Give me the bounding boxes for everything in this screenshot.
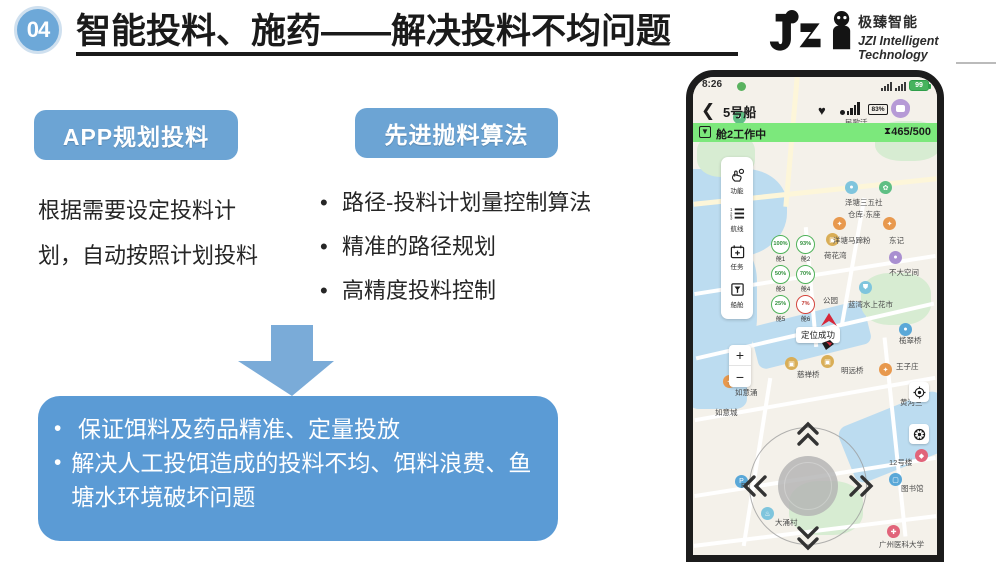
- list-item: • 精准的路径规划: [320, 232, 670, 262]
- cabin-level-value: 7%: [801, 302, 809, 308]
- sidebar-item-label: 功能: [731, 185, 744, 195]
- zoom-out-button[interactable]: −: [729, 366, 751, 387]
- work-status-bar: ▼ 舱2工作中 ⧗ 465/500: [693, 123, 937, 142]
- boat-heading-marker-icon: [819, 312, 839, 328]
- cabin-label: 舱2: [801, 254, 810, 263]
- map-label: 公园: [823, 295, 838, 306]
- sidebar-item-function[interactable]: 功能: [721, 162, 753, 200]
- map-pin[interactable]: ✿: [879, 181, 892, 194]
- cabin-label: 舱4: [801, 284, 810, 293]
- status-indicator-dot: [737, 82, 746, 91]
- heading-pill-app-planning: APP规划投料: [34, 110, 238, 160]
- sidebar-item-task[interactable]: 任务: [721, 238, 753, 276]
- work-status-text: 舱2工作中: [716, 126, 766, 142]
- map-label: 明远桥: [841, 365, 864, 376]
- map-pin[interactable]: ▣: [821, 355, 834, 368]
- map-left-toolbar: 功能 123 航线 任务: [721, 157, 753, 319]
- funnel-icon: [729, 281, 746, 298]
- map-pin[interactable]: ◆: [915, 449, 928, 462]
- algorithm-bullet-list: • 路径-投料计划量控制算法 • 精准的路径规划 • 高精度投料控制: [320, 188, 670, 320]
- map-pin[interactable]: ⛊: [859, 281, 872, 294]
- map-label: 洋塘马蹄粉: [833, 235, 871, 246]
- map-label: 图书馆: [901, 483, 924, 494]
- map-label: 仓库·东座: [848, 209, 881, 220]
- device-battery-label: 83%: [871, 106, 884, 113]
- list-item: • 解决人工投饵造成的投料不均、饵料浪费、鱼塘水环境破坏问题: [54, 446, 538, 514]
- helm-mode-button[interactable]: [909, 424, 929, 444]
- bullet-marker: •: [320, 188, 342, 218]
- cabin-level-value: 25%: [775, 302, 786, 308]
- phone-mockup: ● ✦ ✦ ● ▣ ● ✿ ▰ ⛊ ● ▣ ✦ ▣ ◆ ▢ ✚ ♨ P ✦: [686, 70, 944, 562]
- hand-pointer-icon: [729, 167, 746, 184]
- section-number: 04: [27, 17, 49, 43]
- feed-amount-label: 465/500: [891, 126, 931, 138]
- map-pin[interactable]: ●: [845, 181, 858, 194]
- map-pin[interactable]: ✚: [887, 525, 900, 538]
- avatar-icon[interactable]: [891, 99, 910, 118]
- cabin-indicator[interactable]: 100%舱1: [769, 235, 792, 263]
- map-label: 不大空间: [889, 267, 919, 278]
- cabin-level-value: 93%: [800, 242, 811, 248]
- hourglass-icon: ⧗: [884, 126, 891, 137]
- locate-me-button[interactable]: [909, 382, 929, 402]
- map-label: 如意涌: [735, 387, 758, 398]
- down-arrow-icon: [237, 325, 335, 397]
- cabin-label: 舱3: [776, 284, 785, 293]
- cabin-level-ring: 50%: [771, 265, 790, 284]
- cabin-label: 舱6: [801, 314, 810, 323]
- cabin-level-value: 100%: [773, 242, 787, 248]
- joystick-up-button[interactable]: [796, 421, 820, 447]
- list-item-label: 路径-投料计划量控制算法: [342, 188, 591, 218]
- bullet-marker: •: [54, 412, 78, 446]
- map-label: 泽塘三五社: [845, 197, 883, 208]
- cabin-level-value: 70%: [800, 272, 811, 278]
- cabin-level-ring: 100%: [771, 235, 790, 254]
- phone-screen: ● ✦ ✦ ● ▣ ● ✿ ▰ ⛊ ● ▣ ✦ ▣ ◆ ▢ ✚ ♨ P ✦: [693, 77, 937, 555]
- map-pin[interactable]: ●: [889, 251, 902, 264]
- map-label: 12号楼: [889, 457, 912, 468]
- cellular-signal-2-icon: [895, 81, 906, 91]
- logo-underline: [956, 62, 996, 64]
- list-item: • 路径-投料计划量控制算法: [320, 188, 670, 218]
- cabin-level-value: 50%: [775, 272, 786, 278]
- map-pin[interactable]: ✦: [879, 363, 892, 376]
- cabin-indicator[interactable]: 70%舱4: [794, 265, 817, 293]
- list-item: • 高精度投料控制: [320, 276, 670, 306]
- boat-marker-icon[interactable]: [821, 339, 835, 351]
- brand-logo: 极臻智能 JZI Intelligent Technology: [762, 10, 998, 56]
- status-icons: 99: [881, 80, 929, 91]
- heart-icon[interactable]: ♥: [818, 103, 826, 118]
- list-item-label: 精准的路径规划: [342, 232, 496, 262]
- svg-text:3: 3: [730, 216, 733, 221]
- sidebar-item-label: 任务: [731, 261, 744, 271]
- battery-icon: 99: [909, 80, 929, 91]
- page-title: 智能投料、施药——解决投料不均问题: [76, 3, 671, 54]
- cabin-level-indicators: 100%舱193%舱250%舱370%舱425%舱57%舱6: [769, 235, 819, 323]
- crosshair-icon: [913, 386, 926, 399]
- jzi-logo-icon: [768, 10, 854, 54]
- zoom-in-button[interactable]: +: [729, 345, 751, 366]
- route-lines-icon: 123: [729, 205, 746, 222]
- list-item-label: 保证饵料及药品精准、定量投放: [78, 412, 400, 446]
- joystick-knob[interactable]: [778, 456, 838, 516]
- cabin-label: 舱1: [776, 254, 785, 263]
- list-item-label: 解决人工投饵造成的投料不均、饵料浪费、鱼塘水环境破坏问题: [71, 446, 538, 514]
- map-label: 榄翠桥: [899, 335, 922, 346]
- slide-header: 04 智能投料、施药——解决投料不均问题 极臻智能 JZI Intelligen…: [0, 0, 1000, 62]
- pill-1-label: APP规划投料: [63, 118, 209, 152]
- bullet-marker: •: [54, 446, 71, 480]
- map-zoom-controls: + −: [729, 345, 751, 387]
- sidebar-item-label: 航线: [731, 223, 744, 233]
- app-header-bar: ❮ 5号船 ♥ 83%: [693, 97, 937, 123]
- sidebar-item-label: 船舱: [731, 299, 744, 309]
- map-label: 荷花湾: [824, 250, 847, 261]
- cabin-label: 舱5: [776, 314, 785, 323]
- cabin-level-ring: 70%: [796, 265, 815, 284]
- title-underline: [76, 52, 738, 56]
- cellular-signal-icon: [881, 81, 892, 91]
- ship-name-label: 5号船: [723, 102, 756, 121]
- map-label: 慈禅桥: [797, 369, 820, 380]
- bullet-marker: •: [320, 232, 342, 262]
- chevron-left-icon[interactable]: ❮: [701, 101, 715, 121]
- results-callout-box: • 保证饵料及药品精准、定量投放 • 解决人工投饵造成的投料不均、饵料浪费、鱼塘…: [38, 396, 558, 541]
- cabin-indicator[interactable]: 7%舱6: [794, 295, 817, 323]
- map-label: 东记: [889, 235, 904, 246]
- cabin-icon: ▼: [699, 126, 711, 138]
- signal-icon[interactable]: [840, 102, 860, 115]
- section-number-badge: 04: [14, 6, 62, 54]
- list-item: • 保证饵料及药品精准、定量投放: [54, 412, 538, 446]
- map-label: 王子庄: [896, 361, 919, 372]
- helm-icon: [913, 428, 926, 441]
- sidebar-item-route[interactable]: 123 航线: [721, 200, 753, 238]
- joystick-left-button[interactable]: [742, 474, 768, 498]
- cabin-level-ring: 25%: [771, 295, 790, 314]
- brand-name-cn: 极臻智能: [858, 12, 998, 32]
- list-item-label: 高精度投料控制: [342, 276, 496, 306]
- calendar-plus-icon: [729, 243, 746, 260]
- joystick-down-button[interactable]: [796, 525, 820, 551]
- map-label: 如意城: [715, 407, 738, 418]
- map-label: 广州医科大学: [879, 539, 924, 550]
- device-battery-icon[interactable]: 83%: [868, 104, 888, 115]
- heading-pill-algorithm: 先进抛料算法: [355, 108, 558, 158]
- description-paragraph: 根据需要设定投料计划，自动按照计划投料: [38, 188, 263, 278]
- cabin-level-ring: 93%: [796, 235, 815, 254]
- brand-text: 极臻智能 JZI Intelligent Technology: [858, 12, 998, 62]
- slide-root: 04 智能投料、施药——解决投料不均问题 极臻智能 JZI Intelligen…: [0, 0, 1000, 562]
- map-pin[interactable]: ✦: [833, 217, 846, 230]
- status-time: 8:26: [702, 79, 722, 90]
- sidebar-item-cabin[interactable]: 船舱: [721, 276, 753, 314]
- brand-name-en: JZI Intelligent Technology: [858, 34, 998, 62]
- map-pin[interactable]: ✦: [883, 217, 896, 230]
- joystick-control[interactable]: [749, 427, 867, 545]
- phone-status-bar: 8:26 99: [693, 77, 937, 97]
- battery-level-text: 99: [910, 80, 928, 92]
- bullet-marker: •: [320, 276, 342, 306]
- cabin-indicator[interactable]: 93%舱2: [794, 235, 817, 263]
- cabin-level-ring: 7%: [796, 295, 815, 314]
- cabin-indicator[interactable]: 25%舱5: [769, 295, 792, 323]
- cabin-indicator[interactable]: 50%舱3: [769, 265, 792, 293]
- pill-2-label: 先进抛料算法: [385, 116, 529, 150]
- map-label: 蓝湾水上花市: [848, 299, 893, 310]
- joystick-right-button[interactable]: [848, 474, 874, 498]
